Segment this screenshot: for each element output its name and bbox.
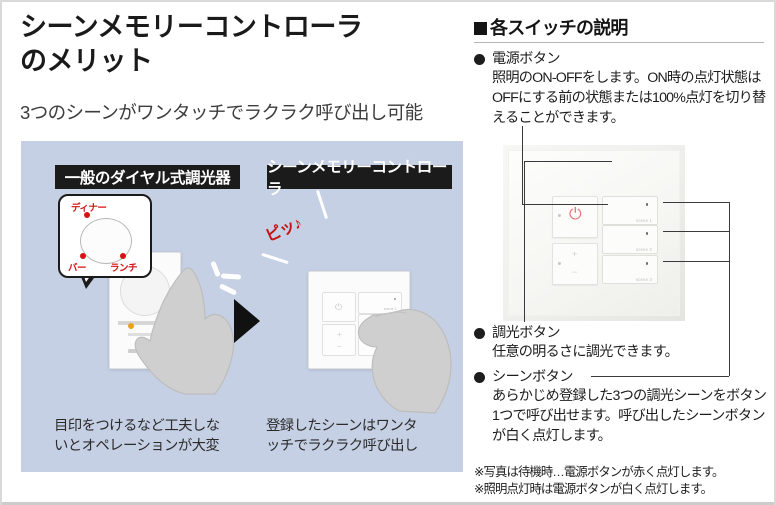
- power-icon: ⏻: [569, 207, 582, 223]
- right-panel: 各スイッチの説明 電源ボタン 照明のON-OFFをします。ON時の点灯状態はOF…: [465, 2, 774, 502]
- square-bullet-icon: [474, 22, 487, 35]
- page-title-line2: のメリット: [20, 44, 460, 78]
- left-panel: シーンメモリーコントローラ のメリット 3つのシーンがワンタッチでラクラク呼び出…: [2, 2, 463, 502]
- caption-conventional: 目印をつけるなど工夫しな いとオペレーションが大変: [54, 416, 239, 457]
- power-button-body: 照明のON-OFFをします。ON時の点灯状態はOFFにする前の状態または100%…: [492, 69, 770, 129]
- footnote-2: ※照明点灯時は電源ボタンが白く点灯します。: [474, 481, 770, 498]
- leader-scene2-horizontal: [663, 231, 729, 232]
- caption-scene-memory-line2: ッチでラクラク呼び出し: [266, 436, 456, 456]
- leader-power-vertical: [522, 126, 523, 204]
- page-root: シーンメモリーコントローラ のメリット 3つのシーンがワンタッチでラクラク呼び出…: [0, 0, 776, 505]
- scene2-label: scene 2: [636, 247, 652, 252]
- label-conventional-dimmer: 一般のダイヤル式調光器: [55, 165, 240, 189]
- transition-arrow-icon: [234, 299, 260, 343]
- device-dimmer-button: + −: [552, 243, 598, 285]
- scene1-label: scene 1: [636, 218, 652, 223]
- scene3-led-icon: [646, 262, 649, 265]
- beep-sound-label: ピッ♪: [261, 210, 305, 247]
- mini-power-icon: ⏻: [335, 302, 342, 313]
- plus-icon: +: [572, 250, 577, 259]
- device-scene1-button: scene 1: [602, 196, 658, 225]
- page-subtitle: 3つのシーンがワンタッチでラクラク呼び出し可能: [20, 102, 465, 124]
- beep-line-1-icon: [261, 253, 289, 265]
- leader-power-horizontal: [522, 204, 608, 205]
- dial-dot-bar-icon: [80, 253, 86, 259]
- mini-minus-icon: −: [337, 342, 342, 351]
- hand-illustration-left: [133, 263, 243, 395]
- leader-scene1-horizontal: [663, 202, 729, 203]
- mini-plus-icon: +: [337, 330, 342, 339]
- leader-scene3-horizontal: [663, 261, 729, 262]
- section-header-label: 各スイッチの説明: [490, 18, 628, 38]
- footnote-1: ※写真は待機時…電源ボタンが赤く点灯します。: [474, 464, 770, 481]
- scene3-label: scene 3: [636, 277, 652, 282]
- label-scene-memory-controller: シーンメモリーコントローラ: [267, 165, 452, 189]
- scene1-led-icon: [646, 203, 649, 206]
- leader-dimmer-horizontal: [524, 161, 612, 162]
- device-faceplate: ⏻ + − scene 1 scene 2 scene 3: [508, 150, 680, 316]
- dial-dot-dinner-icon: [84, 212, 90, 218]
- minus-icon: −: [572, 268, 577, 277]
- bullet-dot-icon: [474, 54, 485, 65]
- caption-scene-memory-line1: 登録したシーンはワンタ: [266, 416, 456, 436]
- device-photo: ⏻ + − scene 1 scene 2 scene 3: [503, 145, 685, 321]
- footnotes: ※写真は待機時…電源ボタンが赤く点灯します。 ※照明点灯時は電源ボタンが白く点灯…: [474, 464, 770, 498]
- dimmer-button-heading: 調光ボタン: [492, 324, 560, 343]
- device-dimmer-led-icon: [558, 262, 561, 265]
- dial-mark-bar: バー: [68, 260, 86, 274]
- dimmer-button-body: 任意の明るさに調光できます。: [492, 343, 770, 363]
- dial-dot-lunch-icon: [120, 253, 126, 259]
- device-scene2-button: scene 2: [602, 225, 658, 254]
- power-button-heading: 電源ボタン: [492, 50, 560, 69]
- device-power-led-icon: [558, 214, 561, 217]
- device-scene3-button: scene 3: [602, 255, 658, 284]
- caption-conventional-line1: 目印をつけるなど工夫しな: [54, 416, 239, 436]
- header-divider: [474, 42, 764, 43]
- caption-conventional-line2: いとオペレーションが大変: [54, 436, 239, 456]
- leader-dimmer-vertical: [524, 161, 525, 322]
- caption-scene-memory: 登録したシーンはワンタ ッチでラクラク呼び出し: [266, 416, 456, 457]
- section-header: 各スイッチの説明: [474, 14, 628, 40]
- hand-illustration-right: [351, 289, 457, 417]
- description-scene-button: シーンボタン あらかじめ登録した3つの調光シーンをボタン1つで呼び出せます。呼び…: [474, 368, 770, 447]
- description-power-button: 電源ボタン 照明のON-OFFをします。ON時の点灯状態はOFFにする前の状態ま…: [474, 50, 770, 129]
- description-dimmer-button: 調光ボタン 任意の明るさに調光できます。: [474, 324, 770, 363]
- page-title: シーンメモリーコントローラ のメリット: [20, 10, 460, 78]
- page-title-line1: シーンメモリーコントローラ: [20, 12, 362, 42]
- scene2-led-icon: [646, 232, 649, 235]
- scene-button-body: あらかじめ登録した3つの調光シーンをボタン1つで呼び出せます。呼び出したシーンボ…: [492, 387, 770, 447]
- comparison-panel: 一般のダイヤル式調光器 シーンメモリーコントローラ ディナー バー ランチ: [21, 141, 463, 472]
- scene-button-heading: シーンボタン: [492, 368, 573, 387]
- bullet-dot-icon: [474, 328, 485, 339]
- bullet-dot-icon: [474, 372, 485, 383]
- device-power-button: ⏻: [552, 196, 598, 238]
